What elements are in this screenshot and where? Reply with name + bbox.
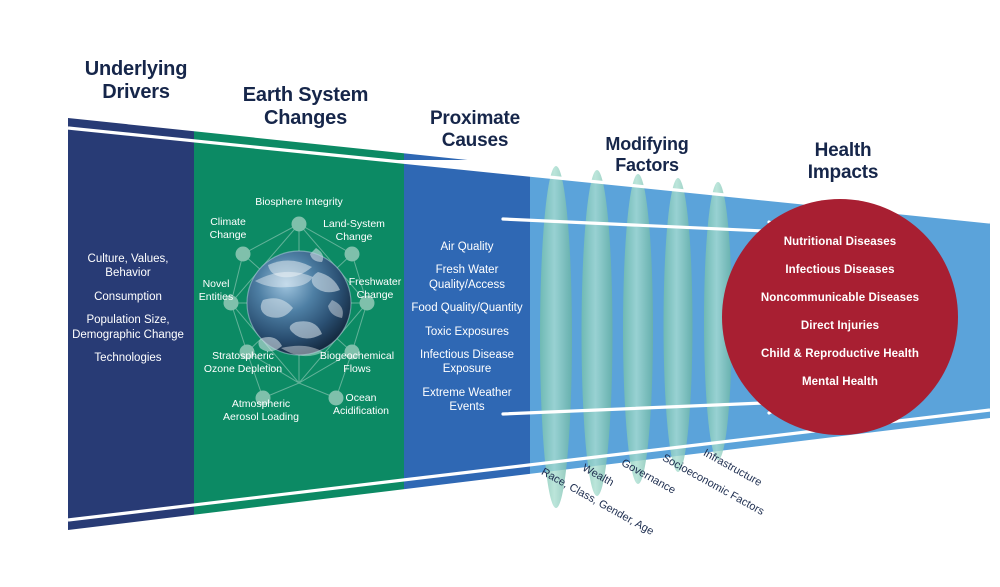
- boundary-label-freshwater-change: FreshwaterChange: [337, 276, 413, 301]
- impact-item: Child & Reproductive Health: [722, 348, 958, 360]
- cause-item: Food Quality/Quantity: [405, 301, 529, 315]
- cause-item: Fresh WaterQuality/Access: [405, 263, 529, 292]
- underlying-drivers-list: Culture, Values,Behavior Consumption Pop…: [62, 252, 194, 374]
- boundary-label-stratospheric-ozone-depletion: StratosphericOzone Depletion: [187, 350, 299, 375]
- lens-socioeconomic-factors: [664, 178, 693, 472]
- cause-item: Infectious DiseaseExposure: [405, 348, 529, 377]
- lens-race-class-gender-age: [540, 166, 572, 508]
- cause-item: Extreme WeatherEvents: [405, 386, 529, 415]
- boundary-label-land-system-change: Land-SystemChange: [311, 218, 397, 243]
- heading-health-impacts: HealthImpacts: [768, 140, 918, 184]
- impact-item: Direct Injuries: [722, 320, 958, 332]
- planetary-health-diagram: UnderlyingDrivers Earth SystemChanges Pr…: [0, 0, 1000, 587]
- driver-item: Consumption: [62, 290, 194, 304]
- impact-item: Noncommunicable Diseases: [722, 292, 958, 304]
- driver-item: Culture, Values,Behavior: [62, 252, 194, 281]
- cause-item: Toxic Exposures: [405, 325, 529, 339]
- driver-item: Technologies: [62, 351, 194, 365]
- driver-item: Population Size,Demographic Change: [62, 313, 194, 342]
- heading-modifying-factors: ModifyingFactors: [572, 134, 722, 175]
- boundary-label-biogeochemical-flows: BiogeochemicalFlows: [305, 350, 409, 375]
- heading-underlying-drivers: UnderlyingDrivers: [56, 58, 216, 104]
- health-impacts-list: Nutritional Diseases Infectious Diseases…: [722, 236, 958, 388]
- impact-item: Mental Health: [722, 376, 958, 388]
- boundary-label-novel-entities: NovelEntities: [183, 278, 249, 303]
- lens-governance: [623, 174, 653, 484]
- heading-earth-system-changes: Earth SystemChanges: [218, 84, 393, 130]
- boundary-label-ocean-acidification: OceanAcidification: [315, 392, 407, 417]
- lens-wealth: [582, 170, 613, 496]
- boundary-label-biosphere-integrity: Biosphere Integrity: [237, 196, 361, 209]
- impact-item: Nutritional Diseases: [722, 236, 958, 248]
- proximate-causes-list: Air Quality Fresh WaterQuality/Access Fo…: [405, 240, 529, 423]
- impact-item: Infectious Diseases: [722, 264, 958, 276]
- cause-item: Air Quality: [405, 240, 529, 254]
- heading-proximate-causes: ProximateCauses: [400, 108, 550, 152]
- boundary-label-atmospheric-aerosol-loading: AtmosphericAerosol Loading: [198, 398, 324, 423]
- boundary-label-climate-change: ClimateChange: [187, 216, 269, 241]
